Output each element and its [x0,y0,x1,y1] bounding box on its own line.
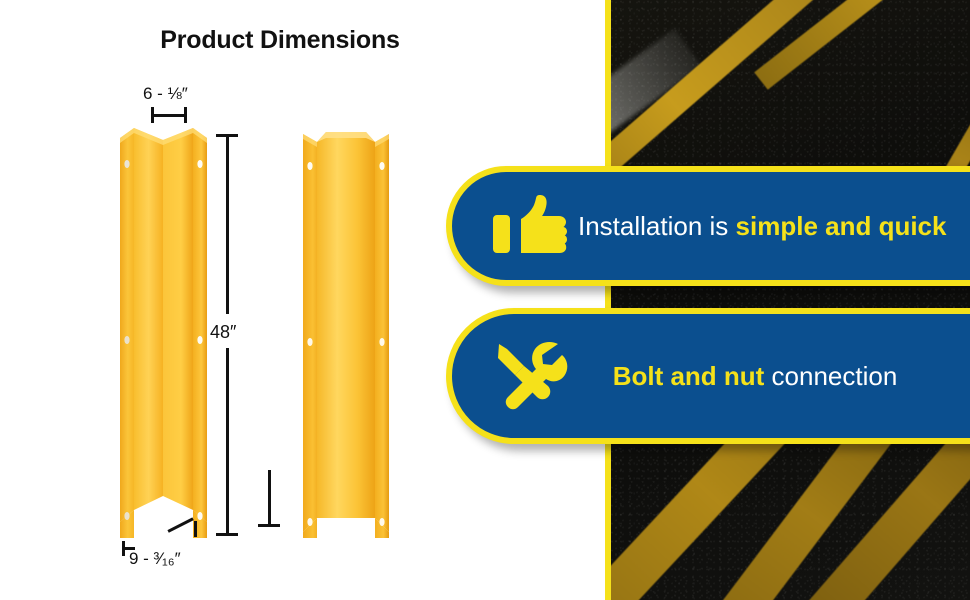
banner-bolt-text: Bolt and nut connection [578,362,970,391]
dimension-height-tick-bottom [216,533,238,536]
guard-post-outside-view [300,118,392,538]
asphalt-photo [605,0,970,600]
banner-installation-text: Installation is simple and quick [578,212,970,241]
dimension-width-tick-right [184,107,187,123]
dimension-depth-leader [123,547,135,550]
guard-post-inside-view [118,118,210,538]
thumbs-up-icon [482,195,578,257]
dimension-width-tick-left [151,107,154,123]
banner-installation-highlight: simple and quick [736,211,947,241]
dimension-width-label: 6 - ⅛″ [143,84,188,104]
dimension-width-bar [152,114,186,117]
dimension-mid-cap [258,524,280,527]
dimension-depth-tick-right [194,521,197,537]
feature-banner-installation: Installation is simple and quick [446,166,970,286]
dimension-height-line-lower [226,348,229,535]
page-title: Product Dimensions [0,26,560,55]
feature-banner-bolt-nut: Bolt and nut connection [446,308,970,444]
dimension-mid-stem [268,470,271,526]
dimensions-panel: Product Dimensions [0,0,605,600]
banner-bolt-suffix: connection [764,361,897,391]
tools-icon [482,338,578,414]
banner-installation-prefix: Installation is [578,211,736,241]
product-infographic: Product Dimensions [0,0,970,600]
dimension-depth-label: 9 - ³⁄₁₆″ [129,549,181,569]
dimension-height-line-upper [226,134,229,314]
dimension-height-label: 48″ [210,322,236,343]
banner-bolt-highlight: Bolt and nut [613,361,765,391]
